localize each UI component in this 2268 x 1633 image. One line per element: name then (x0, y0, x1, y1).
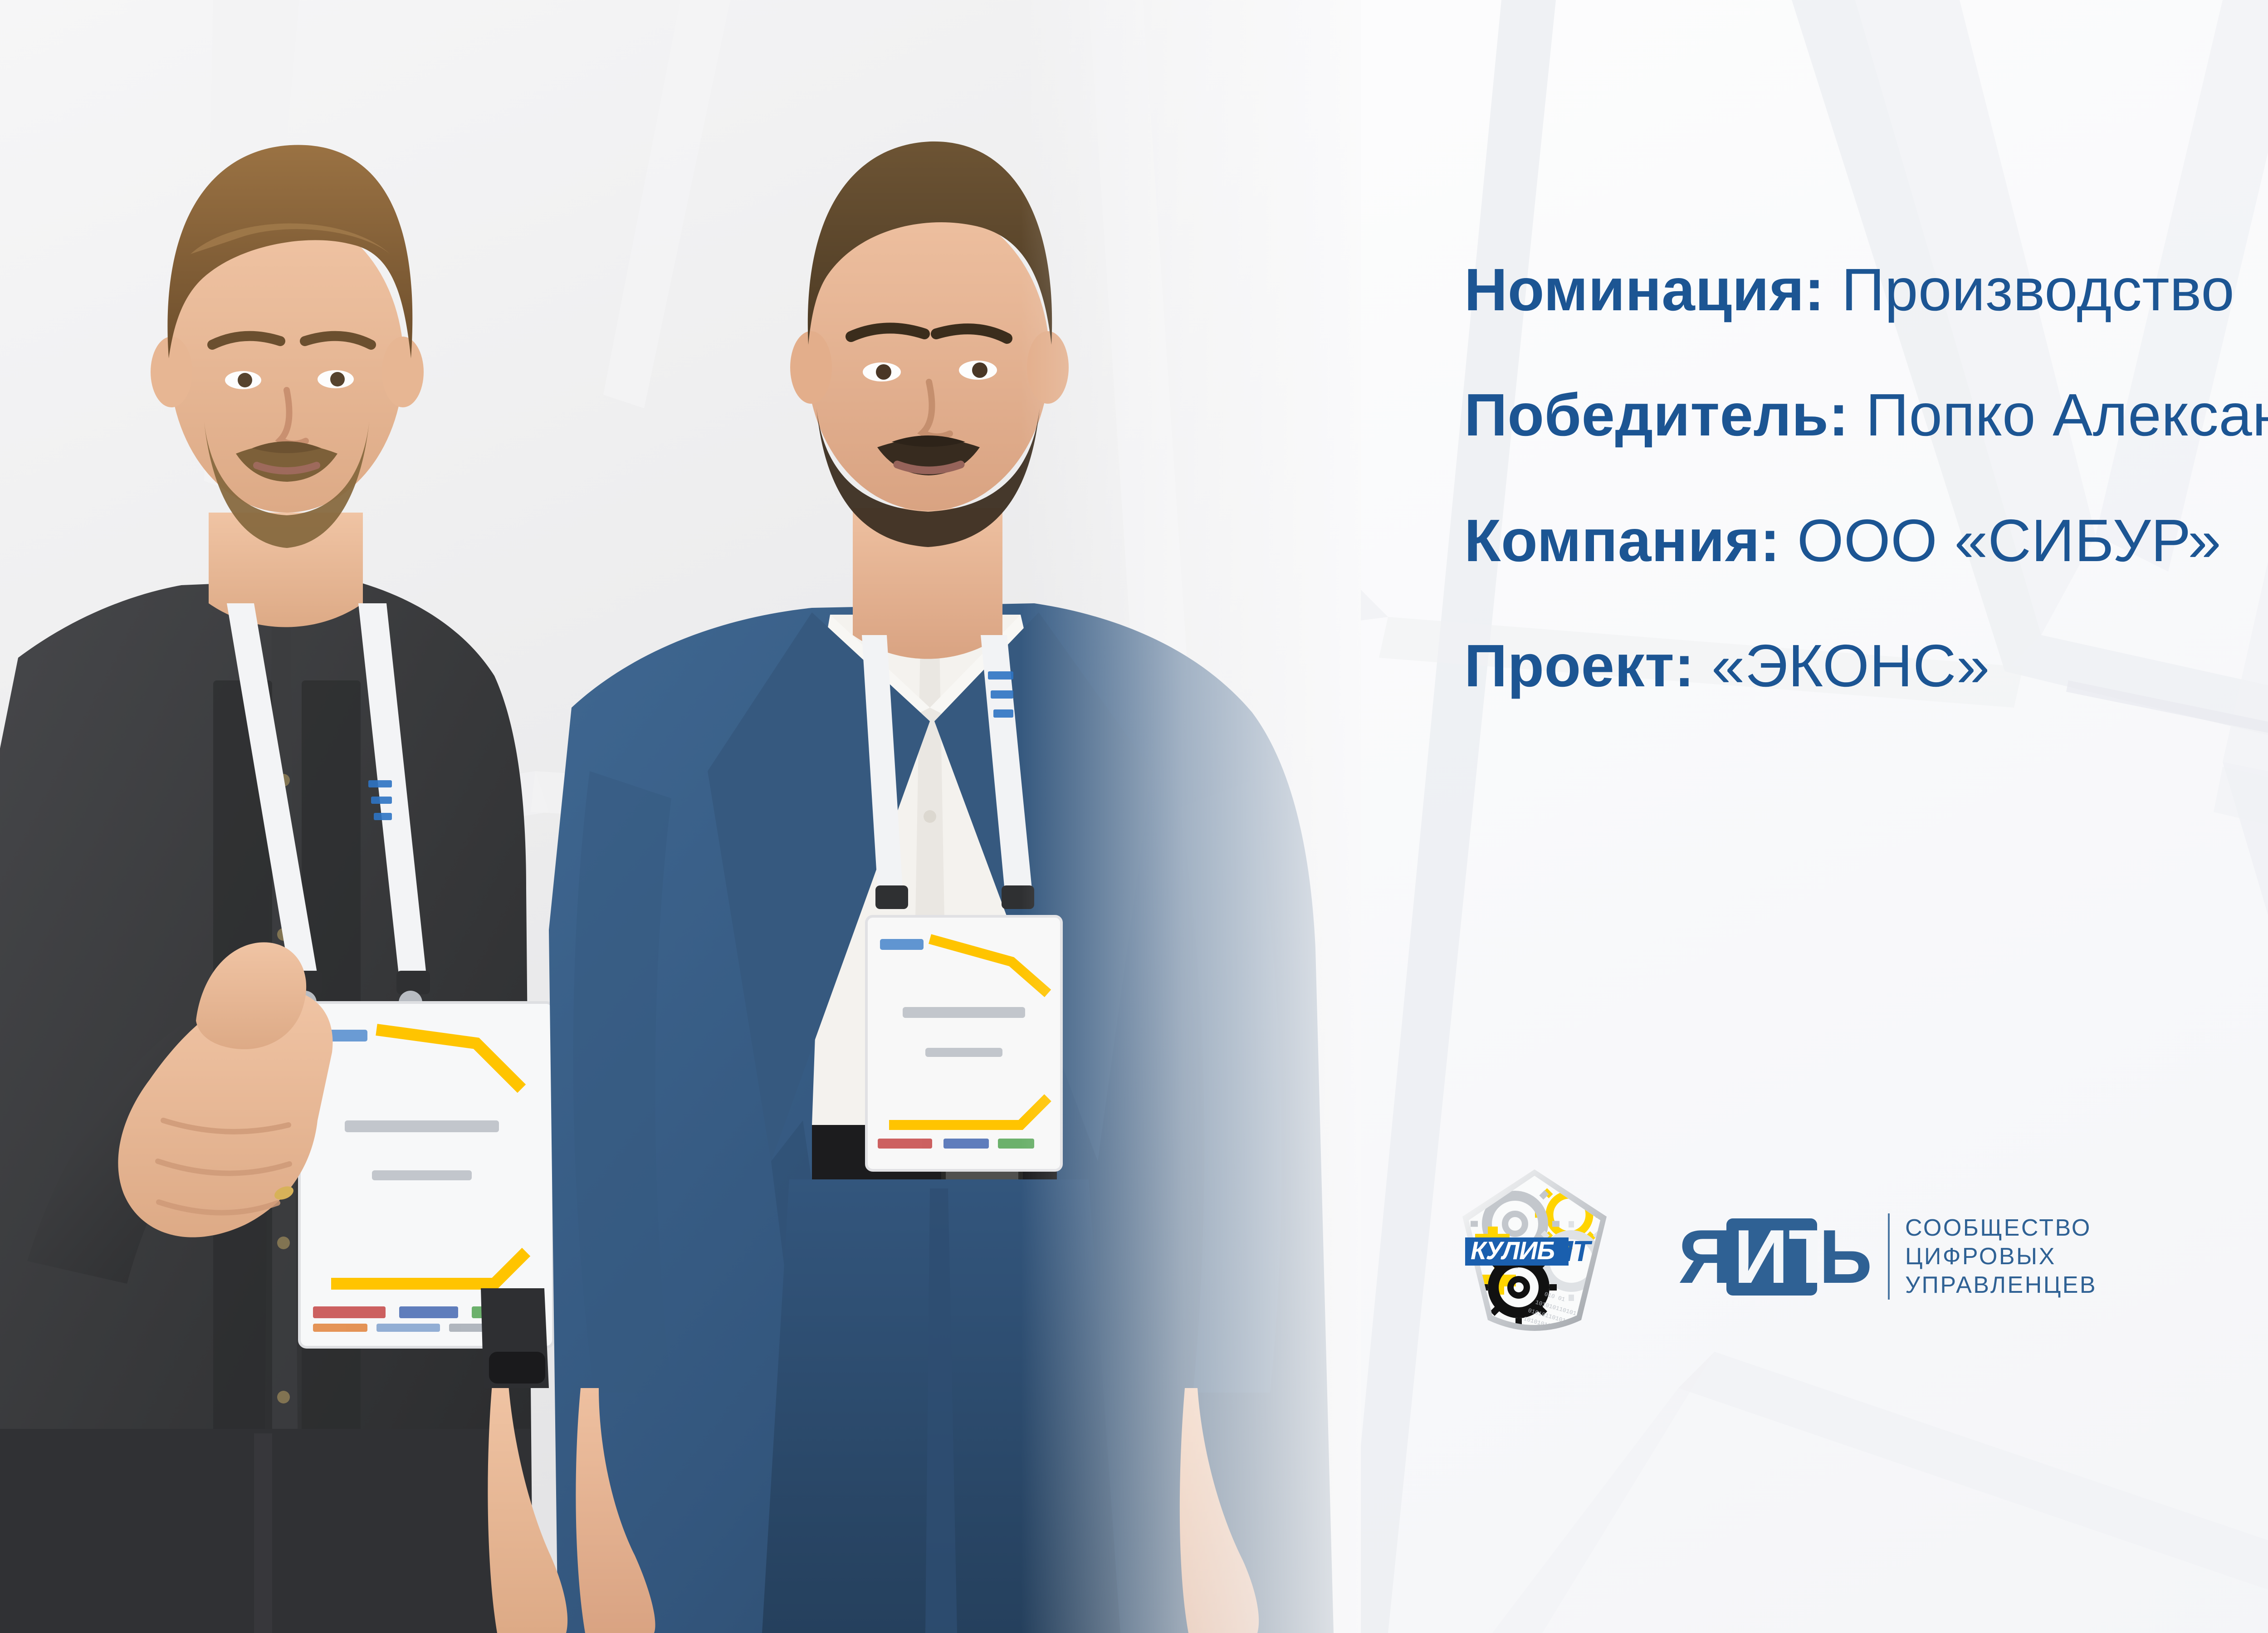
svg-text:Я: Я (1678, 1214, 1733, 1299)
winner-details: Номинация: Производство Победитель: Попк… (1464, 254, 2268, 702)
detail-winner: Победитель: Попко Александр, Старшов Игн… (1464, 379, 2268, 451)
yaity-tagline-line-2: ЦИФРОВЫХ (1905, 1244, 2097, 1269)
winners-photo (0, 0, 1361, 1633)
svg-text:Ы: Ы (1819, 1214, 1872, 1299)
detail-winner-label: Победитель: (1464, 381, 1849, 448)
yaity-wordmark: Я ИТ Ы (1677, 1211, 1872, 1302)
detail-company-label: Компания: (1464, 507, 1780, 574)
yaity-logo: Я ИТ Ы СООБЩЕСТВО ЦИФРОВЫХ УПРАВЛЕНЦЕВ (1677, 1211, 2097, 1302)
detail-nomination-label: Номинация: (1464, 256, 1824, 323)
yaity-divider (1888, 1213, 1890, 1300)
yaity-tagline-line-3: УПРАВЛЕНЦЕВ (1905, 1272, 2097, 1298)
detail-nomination: Номинация: Производство (1464, 254, 2268, 326)
detail-project-label: Проект: (1464, 632, 1695, 699)
detail-nomination-value: Производство (1842, 256, 2235, 323)
photo-illustration (0, 0, 1361, 1633)
right-man-badge (866, 916, 1061, 1170)
yaity-tagline: СООБЩЕСТВО ЦИФРОВЫХ УПРАВЛЕНЦЕВ (1905, 1215, 2097, 1298)
kulibit-shield-icon: 010 01 101010110101 0101011010101010 101… (1455, 1166, 1614, 1347)
yaity-tagline-line-1: СООБЩЕСТВО (1905, 1215, 2097, 1241)
kulibit-wordmark: КУЛИБ ИТ (1465, 1235, 1593, 1267)
detail-winner-value: Попко Александр, Старшов Игнат (1866, 381, 2268, 448)
svg-text:КУЛИБ: КУЛИБ (1471, 1236, 1554, 1265)
detail-company-value: ООО «СИБУР» (1797, 507, 2221, 574)
footer-logos: 010 01 101010110101 0101011010101010 101… (1455, 1166, 2097, 1347)
detail-project: Проект: «ЭКОНС» (1464, 630, 2268, 702)
kulibit-logo: 010 01 101010110101 0101011010101010 101… (1455, 1166, 1614, 1347)
detail-project-value: «ЭКОНС» (1711, 632, 1990, 699)
svg-text:ИТ: ИТ (1552, 1235, 1593, 1267)
yaity-mark-icon: Я ИТ Ы (1677, 1211, 1872, 1302)
detail-company: Компания: ООО «СИБУР» (1464, 505, 2268, 577)
